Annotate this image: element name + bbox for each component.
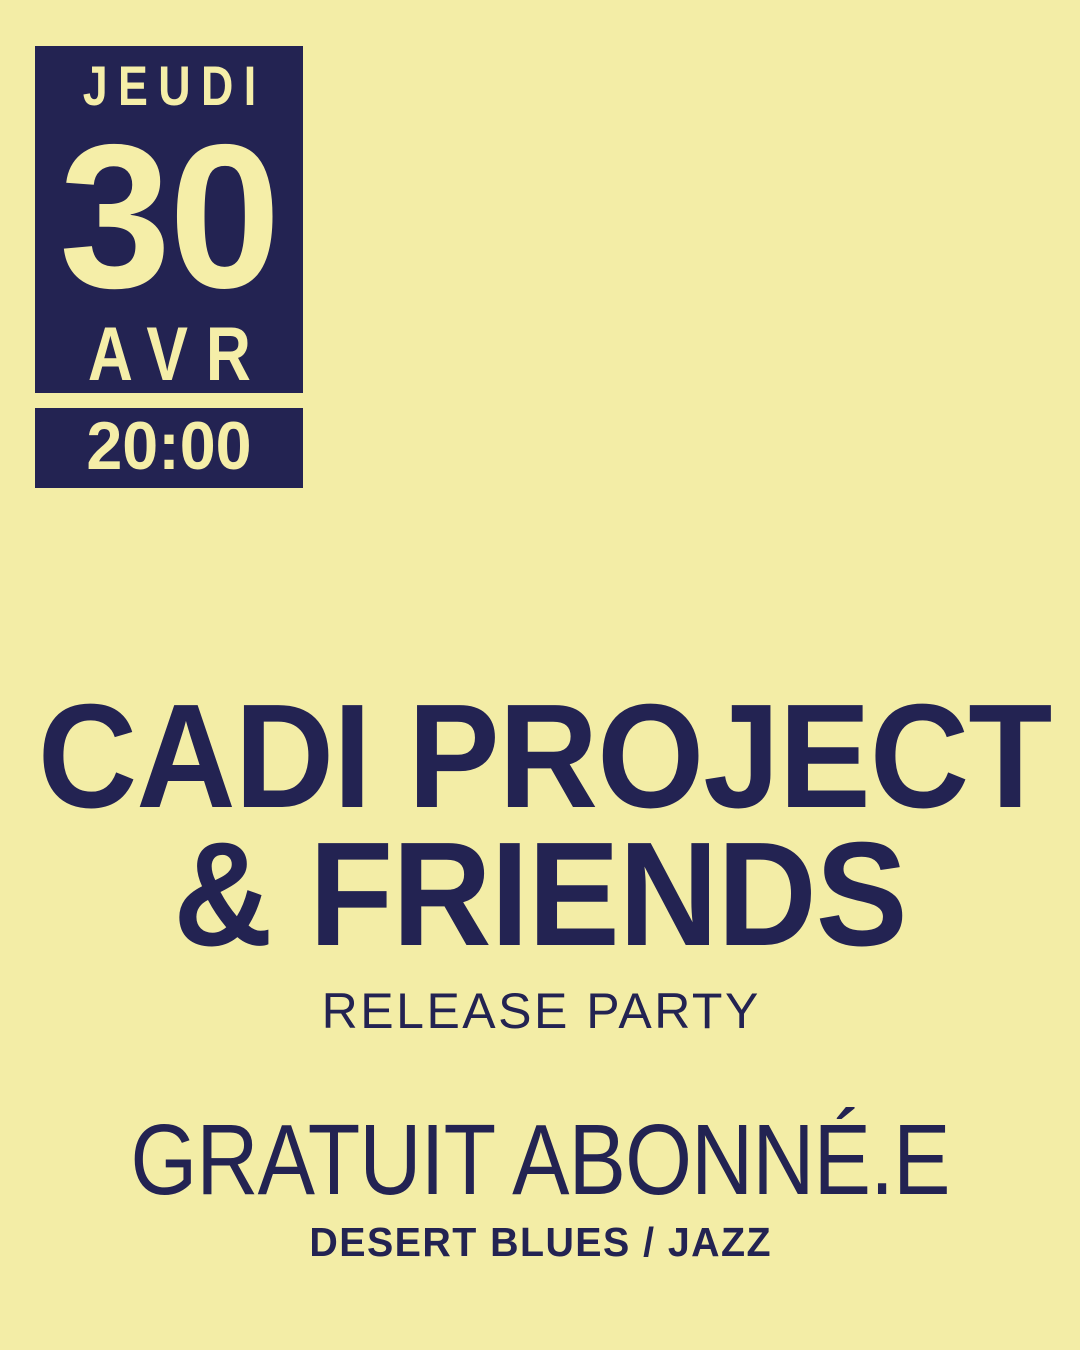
event-poster: JEUDI 30 AVR 20:00 CADI PROJECT & FRIEND…: [0, 0, 1080, 1350]
footer-block: GRATUIT ABONNÉ.E DESERT BLUES / JAZZ: [0, 1112, 1080, 1263]
headline-line-1: CADI PROJECT: [38, 688, 1042, 826]
event-time: 20:00: [86, 412, 251, 480]
headline-line-2: & FRIENDS: [38, 826, 1042, 964]
headline-block: CADI PROJECT & FRIENDS RELEASE PARTY: [0, 688, 1080, 1036]
admission-label: GRATUIT ABONNÉ.E: [76, 1112, 1005, 1208]
genre-label: DESERT BLUES / JAZZ: [22, 1222, 1059, 1263]
date-month: AVR: [69, 317, 268, 393]
date-time-box: 20:00: [35, 408, 303, 488]
headline-subtitle: RELEASE PARTY: [0, 986, 1080, 1036]
date-main-box: JEUDI 30 AVR: [35, 46, 303, 393]
date-badge: JEUDI 30 AVR 20:00: [35, 46, 303, 488]
date-day-number: 30: [59, 120, 279, 315]
